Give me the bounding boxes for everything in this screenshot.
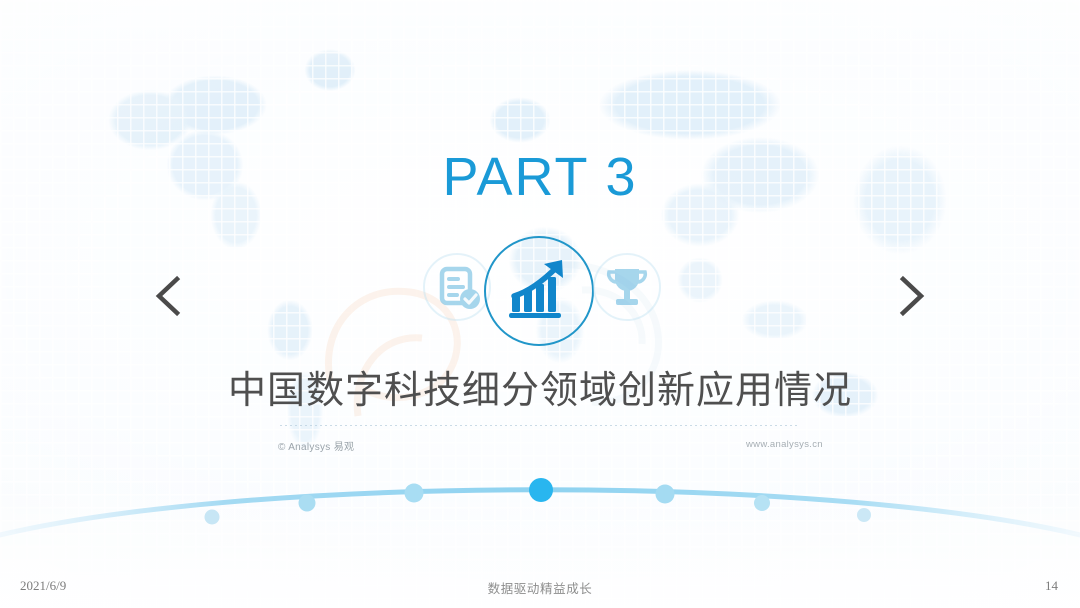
presentation-slide: PART 3 [0,0,1080,608]
part-label: PART 3 [0,150,1080,204]
progress-dot-active[interactable] [529,478,553,502]
progress-dot[interactable] [754,495,770,511]
section-icon-cluster [0,236,1080,346]
page-title: 中国数字科技细分领域创新应用情况 [0,370,1080,414]
title-divider [280,425,800,426]
website-url[interactable]: www.analysys.cn [746,439,823,450]
document-check-icon [420,250,494,324]
bar-chart-growth-icon [506,256,572,322]
document-check-icon-wrapper[interactable] [420,250,494,324]
footer-tagline: 数据驱动精益成长 [0,578,1080,597]
section-progress-arc [0,455,1080,545]
trophy-icon [590,250,664,324]
trophy-icon-wrapper[interactable] [590,250,664,324]
progress-dot[interactable] [299,495,316,512]
progress-dot[interactable] [857,508,871,522]
bar-chart-growth-icon-wrapper[interactable] [484,236,594,346]
progress-dot[interactable] [656,485,675,504]
progress-dot-group [205,478,872,525]
progress-dot[interactable] [405,484,424,503]
progress-dot[interactable] [205,510,220,525]
footer-page-number: 14 [1045,578,1058,594]
copyright-credit: © Analysys 易观 [278,438,354,453]
